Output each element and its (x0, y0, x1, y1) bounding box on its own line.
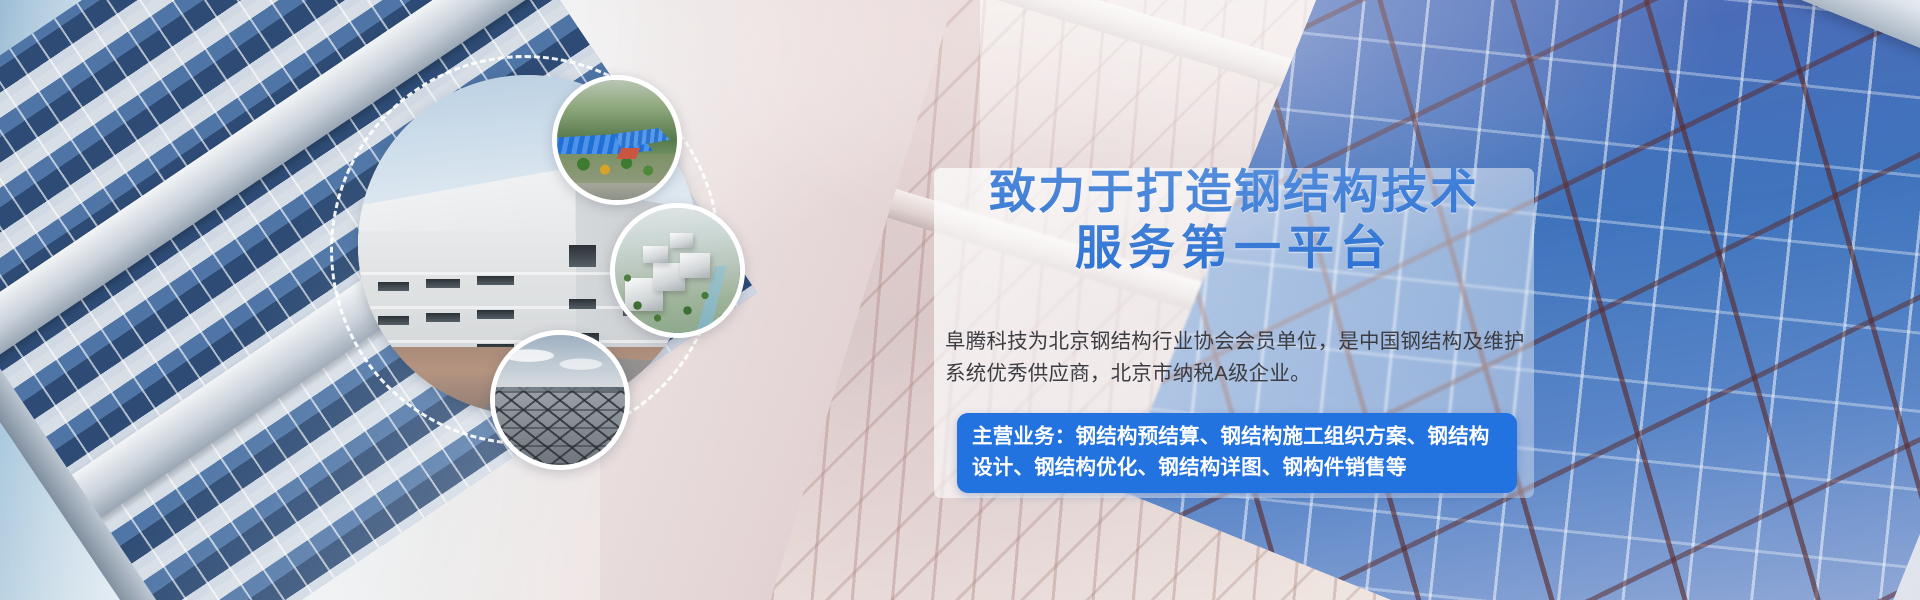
truss-space-frame (495, 387, 625, 465)
main-business-text: 主营业务：钢结构预结算、钢结构施工组织方案、钢结构设计、钢结构优化、钢结构详图、… (972, 421, 1502, 483)
building-window (378, 316, 409, 325)
photo-circle-aerial-campus (610, 203, 745, 338)
photo-circle-aerial-factory (552, 75, 682, 205)
company-description: 阜腾科技为北京钢结构行业协会会员单位，是中国钢结构及维护系统优秀供应商，北京市纳… (945, 326, 1525, 390)
headline-line-2: 服务第一平台 (934, 221, 1534, 277)
building-window (569, 299, 596, 309)
building-window (426, 313, 460, 322)
building-window (477, 310, 514, 319)
factory-parking-lot (557, 183, 677, 200)
headline-line-1: 致力于打造钢结构技术 (989, 165, 1479, 220)
building-window (426, 279, 460, 288)
main-business-callout: 主营业务：钢结构预结算、钢结构施工组织方案、钢结构设计、钢结构优化、钢结构详图、… (957, 413, 1517, 493)
page-title: 致力于打造钢结构技术 服务第一平台 (934, 165, 1534, 277)
photo-circle-steel-truss (490, 330, 630, 470)
building-window (378, 282, 409, 291)
hero-banner: 致力于打造钢结构技术 服务第一平台 阜腾科技为北京钢结构行业协会会员单位，是中国… (0, 0, 1920, 600)
campus-trees (615, 208, 740, 333)
building-window (477, 276, 514, 285)
photo-collage (330, 55, 810, 525)
truss-clouds (495, 340, 625, 379)
building-window-tall (569, 245, 596, 267)
truss-horizon-line (495, 387, 625, 391)
